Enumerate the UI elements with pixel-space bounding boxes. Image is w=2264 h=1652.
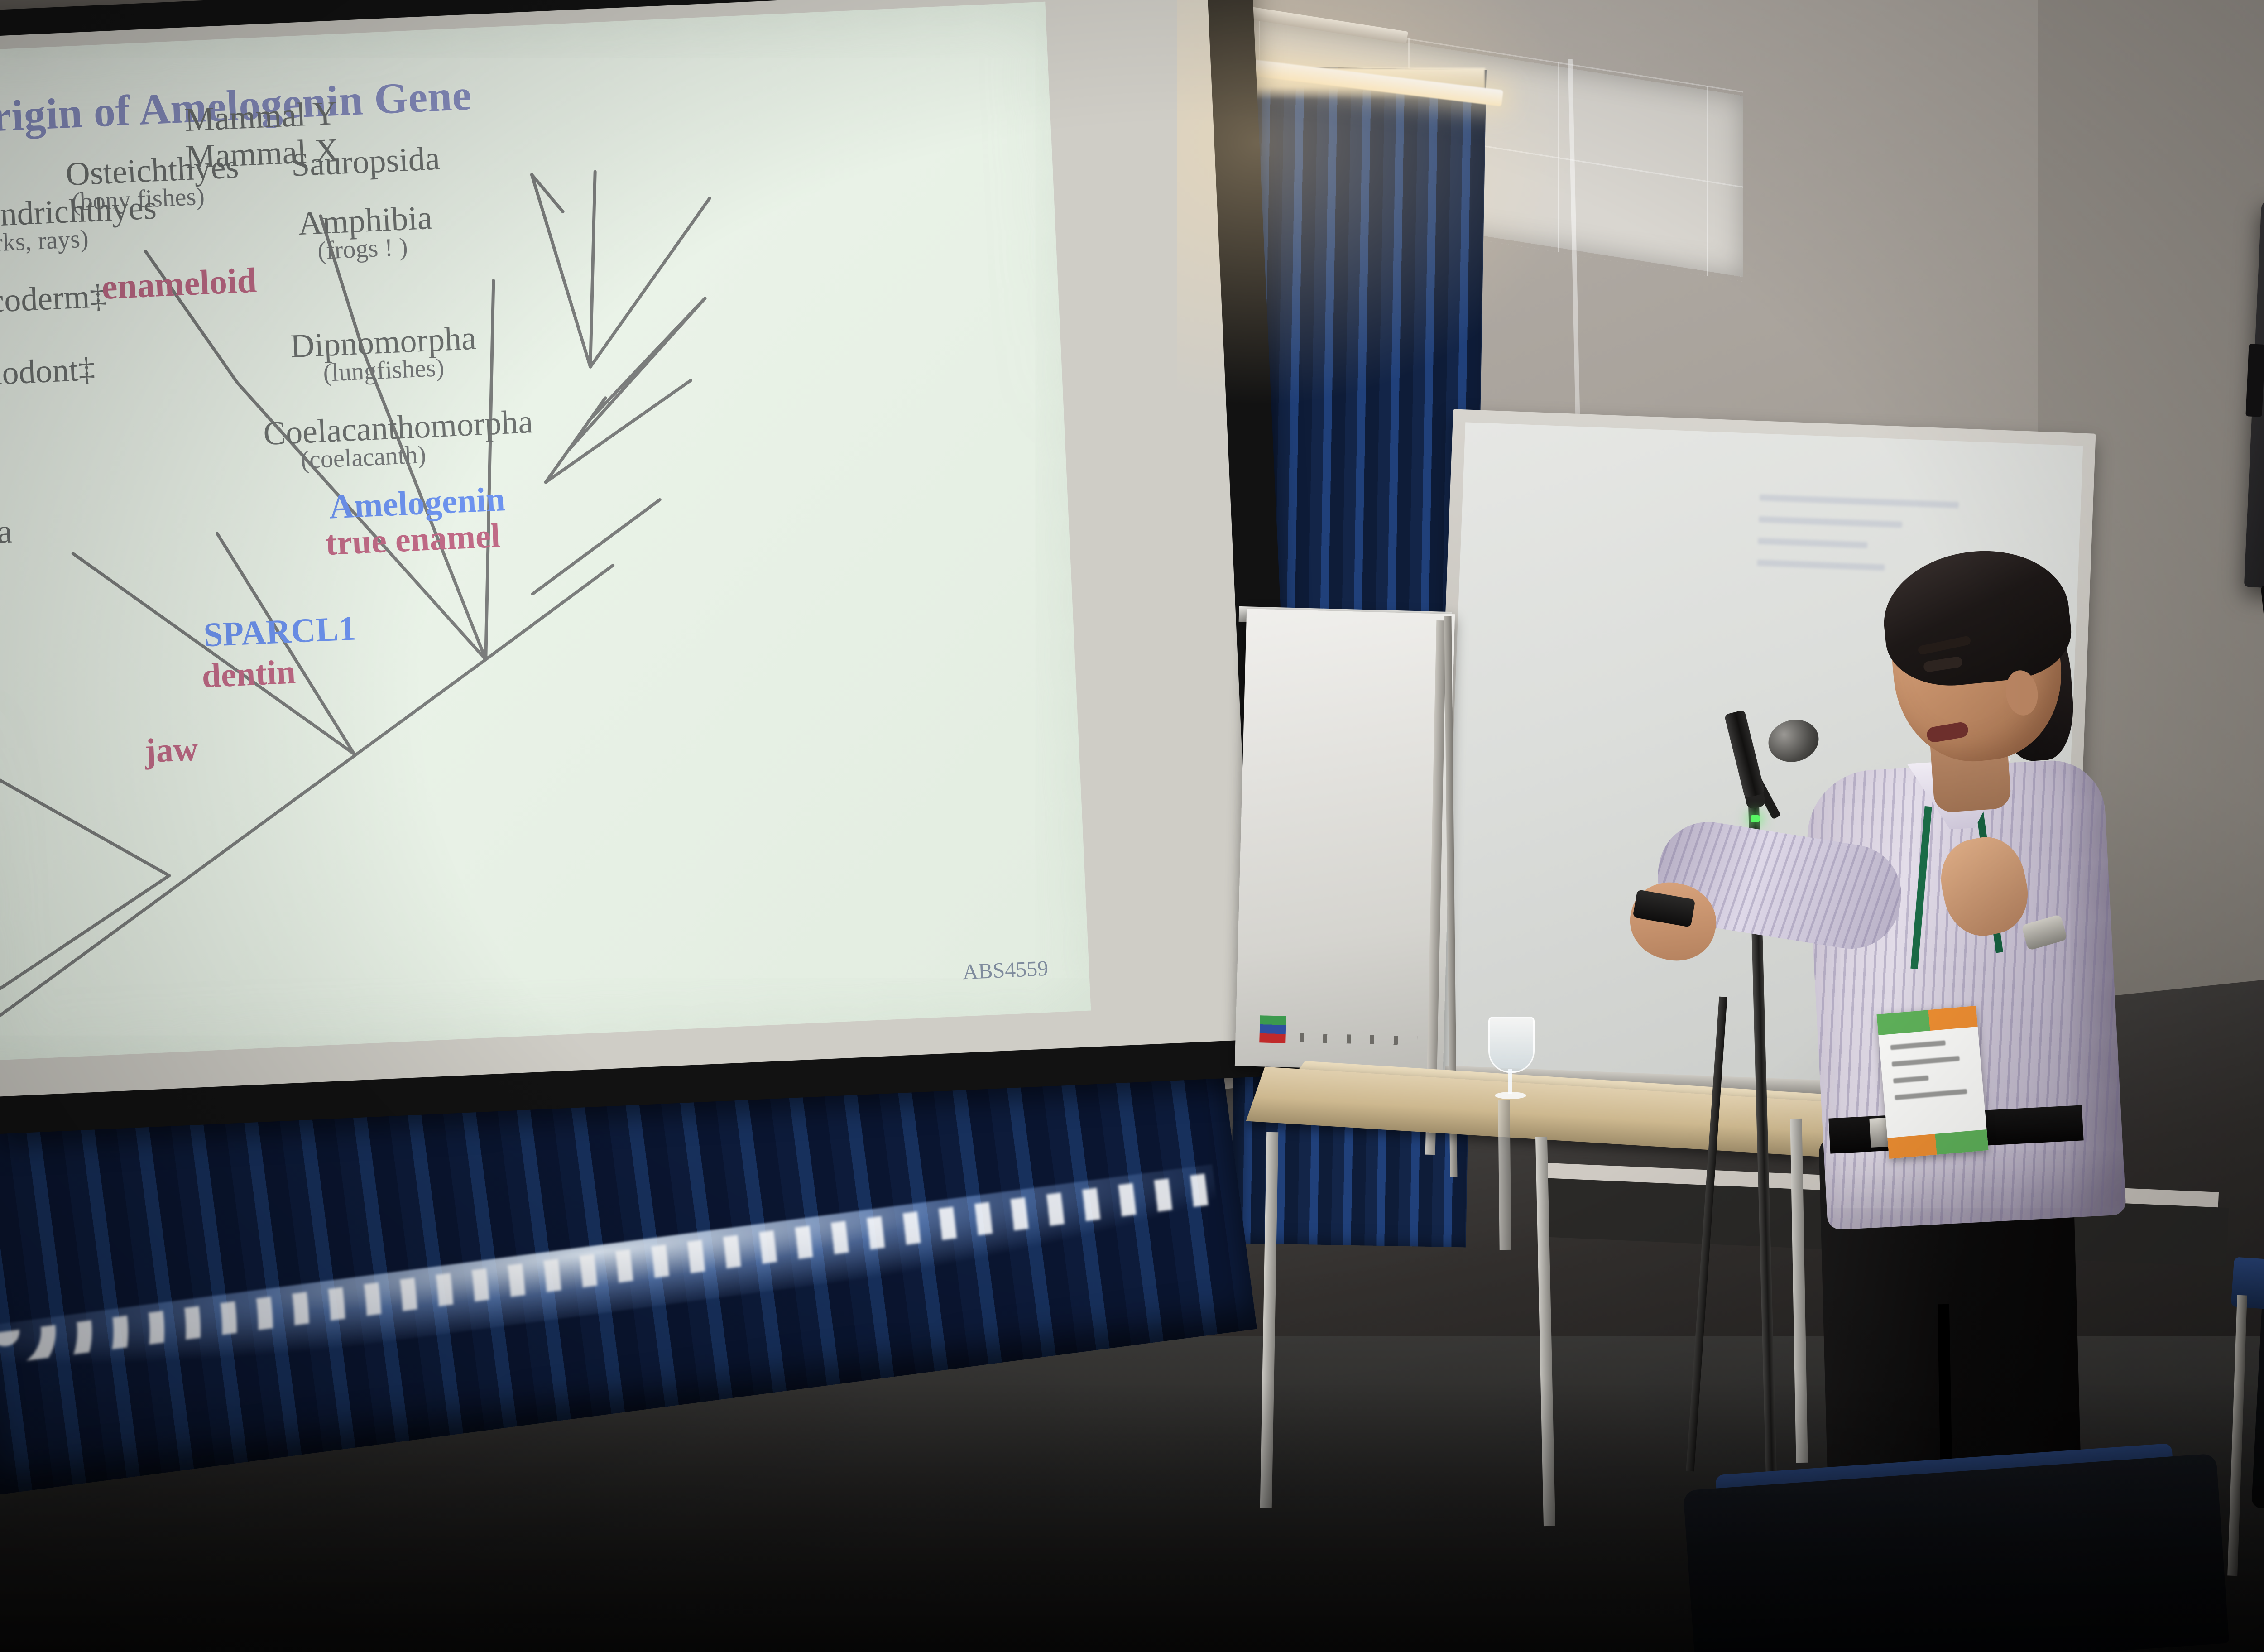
taxon-conodont: Conodont‡ — [0, 353, 96, 392]
table-leg-back-left — [1498, 1100, 1511, 1250]
wine-glass[interactable] — [1483, 1017, 1537, 1098]
taxon-label: rdata — [0, 513, 13, 553]
taxon-placoderm: Placoderm‡ — [0, 280, 107, 320]
presenter-shirt-stripes — [1804, 758, 2126, 1230]
pa-speaker-handle — [2245, 344, 2264, 417]
glass-stem — [1508, 1069, 1512, 1094]
taxon-amphibia: Amphibia (frogs ! ) — [297, 202, 434, 264]
lecture-room-photo: Origin of Amelogenin Gene Mammal Y Mamma… — [0, 0, 2264, 1652]
taxon-chordata-clipped: rdata — [0, 516, 13, 551]
flipchart-logo-icon — [1259, 1015, 1286, 1043]
taxon-label: Mammal Y — [184, 95, 338, 139]
slide-footer-abstract-id: ABS4559 — [962, 956, 1049, 985]
taxon-sauropsida: Sauropsida — [290, 143, 441, 182]
taxon-label: Conodont‡ — [0, 351, 96, 394]
taxon-dipnomorpha: Dipnomorpha (lungfishes) — [289, 322, 478, 387]
trait-label-enameloid: enameloid — [101, 259, 258, 307]
trait-label-true-enamel: true enamel — [325, 516, 501, 563]
projected-slide: Origin of Amelogenin Gene Mammal Y Mamma… — [0, 2, 1091, 1061]
taxon-label: Sauropsida — [290, 140, 441, 184]
taxon-chondrichthyes: Chondrichthyes (sharks, rays) — [0, 192, 158, 258]
flipchart-paper — [1235, 609, 1455, 1071]
trait-label-jaw: jaw — [144, 729, 199, 771]
badge-text-lines — [1890, 1038, 1972, 1112]
presenter-name-badge — [1876, 1006, 1988, 1159]
glass-bowl — [1488, 1017, 1535, 1073]
taxon-mammal-y: Mammal Y — [184, 97, 337, 136]
trait-label-sparcl1: SPARCL1 — [203, 609, 357, 655]
glass-base — [1495, 1092, 1526, 1099]
taxon-label: Placoderm‡ — [0, 278, 107, 322]
microphone-power-led — [1751, 815, 1760, 822]
trait-label-dentin: dentin — [201, 652, 297, 696]
